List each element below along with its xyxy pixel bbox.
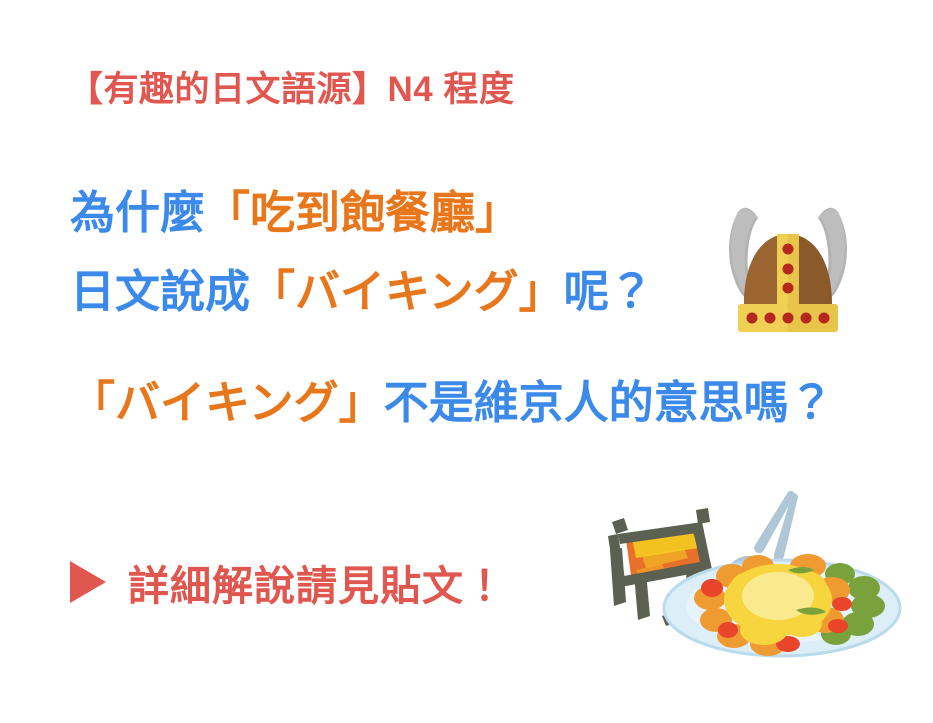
slide-canvas: 【有趣的日文語源】N4 程度 為什麼「吃到飽餐廳」 日文說成「バイキング」呢？ …: [0, 0, 933, 723]
viking-helmet-icon: [714, 200, 862, 340]
cta-row: 詳細解說請見貼文！: [70, 552, 506, 612]
play-triangle-icon: [70, 561, 106, 603]
headline-line-1-segment-1: 為什麼: [70, 187, 205, 238]
headline-line-1: 為什麼「吃到飽餐廳」: [70, 186, 520, 240]
headline-line-3: 「バイキング」不是維京人的意思嗎？: [70, 376, 834, 430]
buffet-food-icon: [592, 478, 904, 658]
page-title: 【有趣的日文語源】N4 程度: [68, 68, 514, 112]
headline-line-3-segment-2: 不是維京人的意思嗎？: [384, 377, 834, 428]
headline-line-2-segment-3: 呢？: [564, 266, 654, 317]
headline-line-2: 日文說成「バイキング」呢？: [70, 265, 654, 319]
cta-label: 詳細解說請見貼文！: [128, 552, 506, 612]
headline-line-2-segment-2: 「バイキング」: [250, 266, 564, 317]
headline-line-1-segment-2: 「吃到飽餐廳」: [205, 187, 520, 238]
headline-line-3-segment-1: 「バイキング」: [70, 377, 384, 428]
headline-line-2-segment-1: 日文說成: [70, 266, 250, 317]
